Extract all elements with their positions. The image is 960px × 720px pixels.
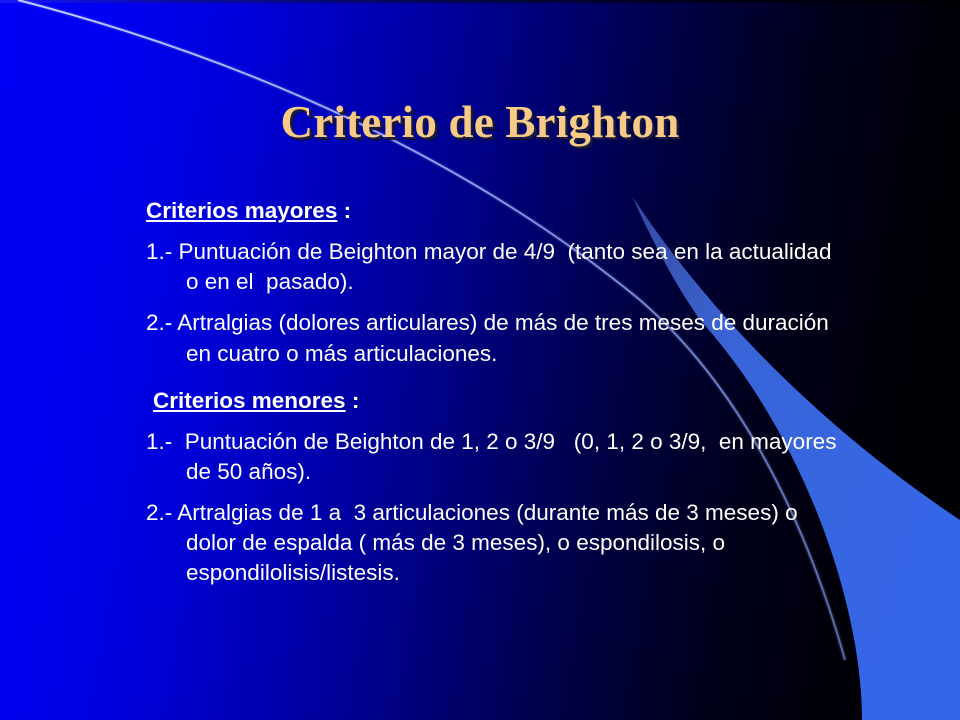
list-item: 2.- Artralgias de 1 a 3 articulaciones (…: [146, 498, 846, 588]
slide: Criterio de Brighton Criterios mayores :…: [0, 0, 960, 720]
title-container: Criterio de Brighton: [0, 96, 960, 148]
list-item: 1.- Puntuación de Beighton de 1, 2 o 3/9…: [146, 427, 846, 487]
section-heading-mayores-label: Criterios mayores: [146, 198, 337, 223]
slide-body: Criterios mayores : 1.- Puntuación de Be…: [146, 196, 846, 589]
section-heading-mayores-colon: :: [337, 198, 351, 223]
page-title: Criterio de Brighton: [281, 96, 680, 148]
list-item: 1.- Puntuación de Beighton mayor de 4/9 …: [146, 237, 846, 297]
list-item: 2.- Artralgias (dolores articulares) de …: [146, 308, 846, 368]
section-heading-mayores: Criterios mayores :: [146, 196, 846, 226]
section-heading-menores: Criterios menores :: [146, 386, 846, 416]
section-heading-menores-colon: :: [346, 388, 360, 413]
section-heading-menores-label: Criterios menores: [153, 388, 346, 413]
